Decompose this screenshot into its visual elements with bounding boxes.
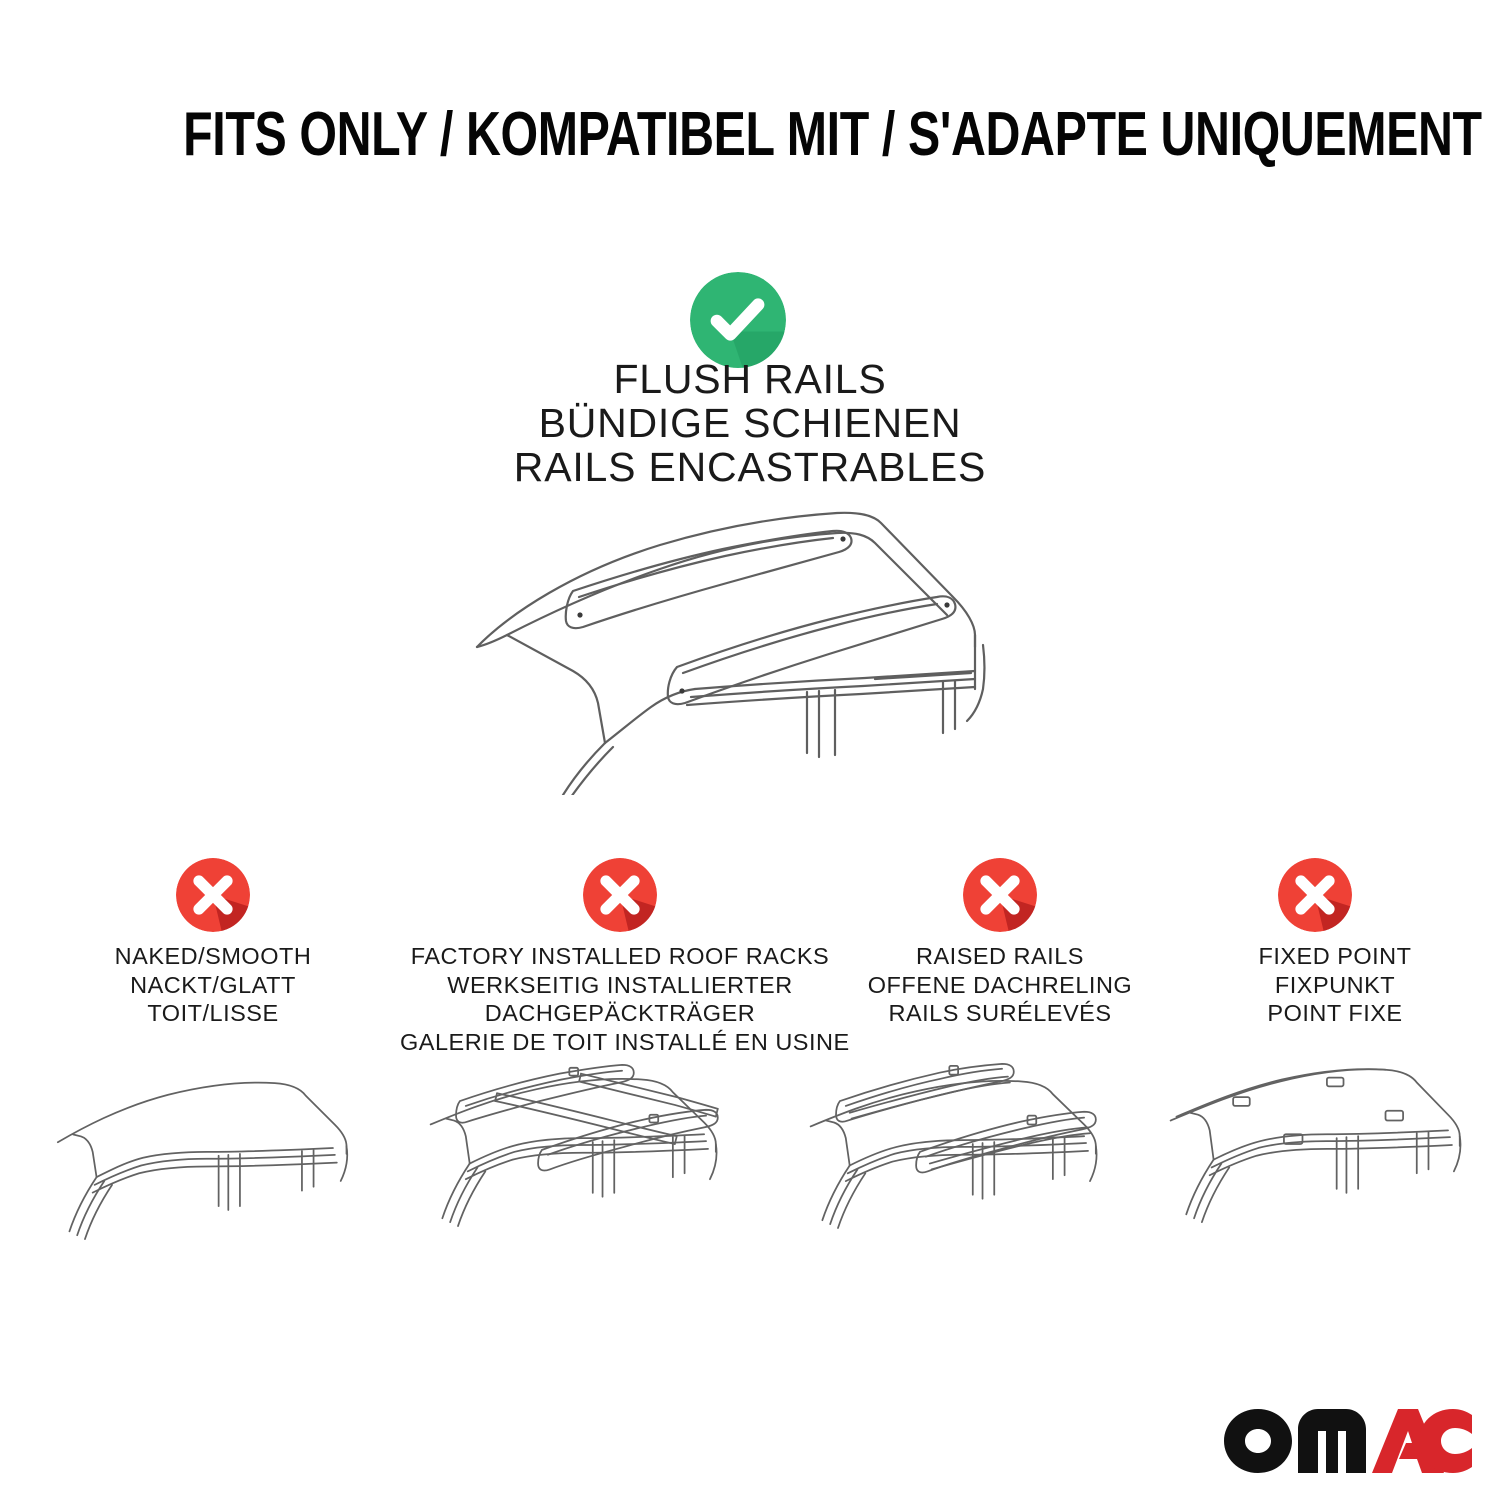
car-roof-with-flush-rails-illustration: [455, 485, 1055, 795]
red-x-circle-icon: [583, 858, 657, 932]
logo-letter-o: [1224, 1409, 1292, 1473]
incompatible-label-fixed-point: FIXED POINT FIXPUNKT POINT FIXE: [1180, 942, 1490, 1028]
omac-brand-logo: [1222, 1405, 1474, 1477]
logo-letter-m: [1298, 1409, 1366, 1473]
red-x-circle-icon: [963, 858, 1037, 932]
label-line-de: OFFENE DACHRELING: [840, 971, 1160, 1000]
car-roof-raised-rails-illustration: [803, 1060, 1123, 1270]
label-line-en: FIXED POINT: [1180, 942, 1490, 971]
label-line-de-1: WERKSEITIG INSTALLIERTER: [400, 971, 840, 1000]
compatible-line-en: FLUSH RAILS: [250, 358, 1250, 402]
compatible-heading: FLUSH RAILS BÜNDIGE SCHIENEN RAILS ENCAS…: [250, 358, 1250, 490]
label-line-de: FIXPUNKT: [1180, 971, 1490, 1000]
car-roof-fixed-point-illustration: [1163, 1060, 1483, 1270]
label-line-fr: GALERIE DE TOIT INSTALLÉ EN USINE: [400, 1028, 840, 1057]
label-line-en: NAKED/SMOOTH: [43, 942, 383, 971]
car-roof-factory-roof-racks-illustration: [423, 1060, 743, 1270]
label-line-en: RAISED RAILS: [840, 942, 1160, 971]
page-title: FITS ONLY / KOMPATIBEL MIT / S'ADAPTE UN…: [0, 104, 1500, 166]
label-line-en: FACTORY INSTALLED ROOF RACKS: [400, 942, 840, 971]
compatible-line-fr: RAILS ENCASTRABLES: [250, 446, 1250, 490]
red-x-circle-icon: [176, 858, 250, 932]
label-line-de-2: DACHGEPÄCKTRÄGER: [400, 999, 840, 1028]
label-line-de: NACKT/GLATT: [43, 971, 383, 1000]
incompatible-label-factory-roof-racks: FACTORY INSTALLED ROOF RACKS WERKSEITIG …: [400, 942, 840, 1057]
incompatible-label-naked-smooth: NAKED/SMOOTH NACKT/GLATT TOIT/LISSE: [43, 942, 383, 1028]
page-title-text: FITS ONLY / KOMPATIBEL MIT / S'ADAPTE UN…: [183, 104, 1482, 166]
label-line-fr: RAILS SURÉLEVÉS: [840, 999, 1160, 1028]
compatible-line-de: BÜNDIGE SCHIENEN: [250, 402, 1250, 446]
green-check-circle-icon: [690, 272, 786, 368]
label-line-fr: TOIT/LISSE: [43, 999, 383, 1028]
car-roof-naked-smooth-illustration: [52, 1060, 362, 1270]
incompatible-label-raised-rails: RAISED RAILS OFFENE DACHRELING RAILS SUR…: [840, 942, 1160, 1028]
label-line-fr: POINT FIXE: [1180, 999, 1490, 1028]
red-x-circle-icon: [1278, 858, 1352, 932]
